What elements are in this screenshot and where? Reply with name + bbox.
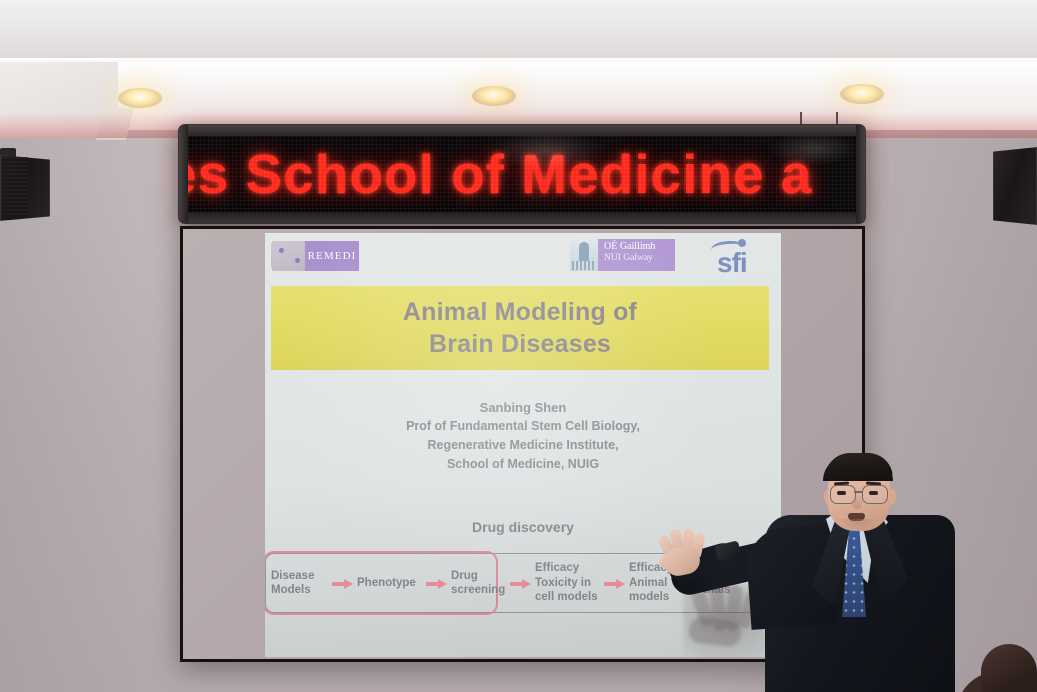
flow-node-line: Efficacy xyxy=(535,561,601,576)
flow-node-line: cell models xyxy=(535,590,601,605)
led-display-panel: es School of Medicine a xyxy=(188,136,856,212)
slide-title-line-1: Animal Modeling of xyxy=(403,296,637,328)
remedi-label: REMEDI xyxy=(308,250,357,262)
flow-node-line: Phenotype xyxy=(357,576,423,591)
speaker-left-grill xyxy=(2,157,28,217)
presenter-eye-left xyxy=(837,491,846,495)
flow-arrow-icon xyxy=(426,578,448,588)
nuig-tower-shape xyxy=(579,242,589,262)
led-marquee-sign: es School of Medicine a xyxy=(178,124,866,224)
flow-arrow-icon xyxy=(604,578,626,588)
nuig-english-name: NUI Galway xyxy=(604,253,675,264)
flow-node-drug-screening: Drug screening xyxy=(451,569,507,598)
sfi-logo: sfi xyxy=(705,237,767,281)
flow-node-cell-models: Efficacy Toxicity in cell models xyxy=(535,561,601,605)
ceiling xyxy=(0,0,1037,62)
presenter-pointing-hand xyxy=(656,527,710,575)
remedi-graphic-icon xyxy=(271,241,305,271)
led-bezel-top xyxy=(179,125,865,136)
author-affiliation-2: Regenerative Medicine Institute, xyxy=(265,436,781,455)
slide-title-line-2: Brain Diseases xyxy=(429,328,611,360)
downlight-center-icon xyxy=(472,86,516,106)
flow-node-phenotype: Phenotype xyxy=(357,576,423,591)
flow-node-line: screening xyxy=(451,583,507,598)
remedi-dot-one xyxy=(279,248,284,253)
nuig-base-shape xyxy=(572,261,596,270)
flow-node-disease-models: Disease Models xyxy=(271,569,329,598)
wall-speaker-right xyxy=(993,147,1037,225)
led-bezel-bottom xyxy=(179,212,865,223)
presenter-figure xyxy=(660,455,960,692)
remedi-dot-two xyxy=(295,258,300,263)
led-bezel-left xyxy=(179,125,188,223)
flow-node-line: Drug xyxy=(451,569,507,584)
remedi-name-box: REMEDI xyxy=(305,241,359,271)
sfi-label: sfi xyxy=(717,247,747,279)
nuig-irish-name: OÉ Gaillimh xyxy=(604,241,675,253)
flow-node-line: Disease xyxy=(271,569,329,584)
led-sign-text: es School of Medicine a xyxy=(188,142,812,206)
flow-node-line: Models xyxy=(271,583,329,598)
nui-galway-logo: OÉ Gaillimh NUI Galway xyxy=(570,239,675,271)
nuig-tower-icon xyxy=(570,239,598,271)
flow-arrow-icon xyxy=(332,578,354,588)
presenter-eye-right xyxy=(869,491,878,495)
downlight-left-icon xyxy=(118,88,162,108)
sfi-dot-icon xyxy=(738,239,746,247)
glasses-bridge-icon xyxy=(854,491,862,493)
nuig-name-box: OÉ Gaillimh NUI Galway xyxy=(598,239,675,271)
slide-logo-row: REMEDI OÉ Gaillimh NUI Galway xyxy=(265,237,781,277)
author-affiliation-1: Prof of Fundamental Stem Cell Biology, xyxy=(265,417,781,436)
presenter-nose xyxy=(852,495,862,509)
author-name: Sanbing Shen xyxy=(265,398,781,417)
downlight-right-icon xyxy=(840,84,884,104)
presenter-chin-shadow xyxy=(838,519,880,531)
flow-node-line: Toxicity in xyxy=(535,576,601,591)
slide-title-band: Animal Modeling of Brain Diseases xyxy=(271,286,769,370)
lecture-hall-photo: es School of Medicine a REMEDI xyxy=(0,0,1037,692)
attendee-head xyxy=(981,644,1037,692)
remedi-logo: REMEDI xyxy=(271,241,359,271)
flow-arrow-icon xyxy=(510,578,532,588)
led-bezel-right xyxy=(856,125,865,223)
